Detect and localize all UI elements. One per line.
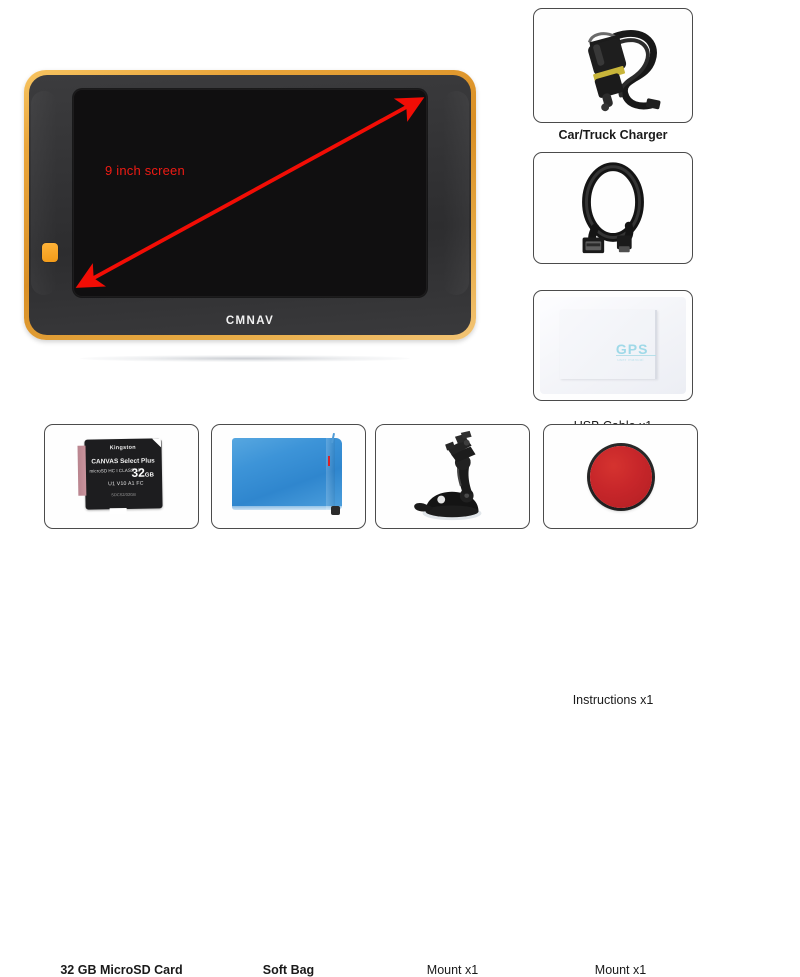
accessory-caption: Car/Truck Charger [533, 128, 693, 142]
bag-tag [328, 456, 330, 466]
power-button[interactable] [42, 243, 58, 262]
accessory-caption: Soft Bag [211, 963, 366, 977]
accessory-caption: Mount x1 [375, 963, 530, 977]
soft-bag-icon [232, 438, 342, 510]
device-reflection [80, 355, 410, 362]
panel-frame [211, 424, 366, 529]
accessory-panel-usb: USB Cable x1 [533, 152, 693, 264]
accessory-panel-softbag: Soft Bag [211, 424, 366, 529]
car-charger-icon [534, 9, 692, 122]
screen-diagonal-arrow [73, 89, 427, 297]
usb-cable-icon [534, 153, 692, 263]
sd-tab [110, 508, 127, 514]
accessory-panel-mount-suction: Mount x1 [375, 424, 530, 529]
panel-frame: Kingston CANVAS Select Plus microSD HC I… [44, 424, 199, 529]
device-body: 9 inch screen CMNAV [29, 75, 471, 335]
gps-logo-subtitle: user manual [617, 357, 643, 362]
panel-frame [533, 152, 693, 264]
microsd-card-icon: Kingston CANVAS Select Plus microSD HC I… [84, 439, 162, 510]
bag-hem [232, 506, 342, 510]
sd-capacity-label: 32GB [131, 467, 154, 479]
sd-brand-label: Kingston [84, 444, 161, 451]
accessory-panel-charger: Car/Truck Charger [533, 8, 693, 123]
bezel-seam-left [31, 91, 57, 295]
bag-cord-lock [331, 506, 340, 515]
accessory-panel-instructions: GPS user manual Instructions x1 [533, 290, 693, 401]
panel-frame: GPS user manual [533, 290, 693, 401]
booklet-spine [655, 310, 657, 380]
gps-device: 9 inch screen CMNAV [24, 70, 476, 340]
sd-contacts [77, 446, 86, 497]
instruction-booklet-icon: GPS user manual [540, 297, 686, 394]
panel-frame [543, 424, 698, 529]
accessory-caption: 32 GB MicroSD Card [44, 963, 199, 977]
adhesive-disc-mount-icon [590, 446, 652, 508]
accessory-panel-sdcard: Kingston CANVAS Select Plus microSD HC I… [44, 424, 199, 529]
panel-frame [533, 8, 693, 123]
bag-fold [326, 438, 336, 510]
sd-capacity-unit: GB [145, 473, 154, 479]
sd-specs-label: U1 V10 A1 FC [108, 481, 144, 488]
accessory-caption: Instructions x1 [533, 693, 693, 707]
bezel-seam-right [443, 91, 469, 295]
sd-capacity-number: 32 [131, 466, 145, 480]
brand-logo: CMNAV [29, 315, 471, 327]
suction-mount-icon [376, 425, 529, 528]
accessory-caption: Mount x1 [543, 963, 698, 977]
device-screen: 9 inch screen [73, 89, 427, 297]
sd-series-label: CANVAS Select Plus [84, 458, 161, 466]
accessory-panel-mount-disc: Mount x1 [543, 424, 698, 529]
booklet-rule [616, 355, 656, 356]
sd-code-label: SDCS2/32GB [85, 491, 162, 497]
gps-device-showcase: 9 inch screen CMNAV [0, 0, 520, 405]
panel-frame [375, 424, 530, 529]
